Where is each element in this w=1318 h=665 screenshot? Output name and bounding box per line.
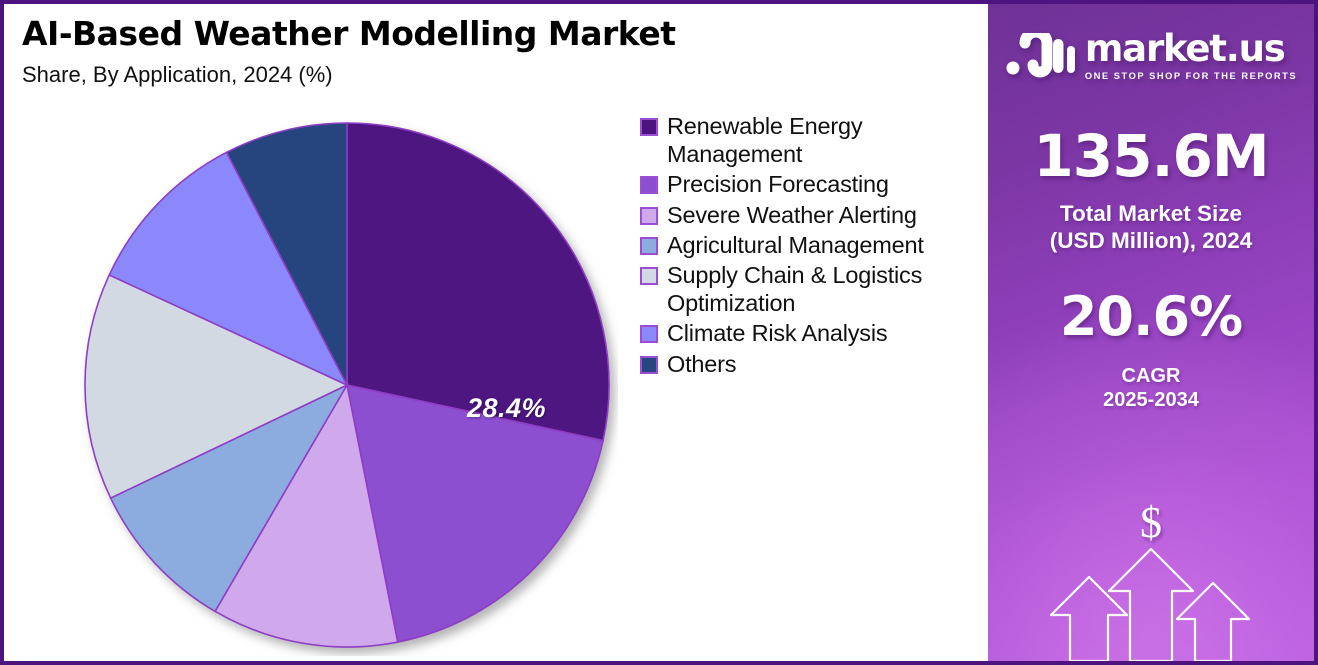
legend-item-label: Agricultural Management: [667, 231, 924, 259]
stats-sidebar: market.us ONE STOP SHOP FOR THE REPORTS …: [988, 4, 1314, 661]
chart-panel: AI-Based Weather Modelling Market Share,…: [4, 4, 988, 661]
dollar-sign-icon: $: [988, 501, 1314, 545]
pie-chart: 28.4%: [82, 120, 618, 656]
legend-item[interactable]: Others: [640, 350, 980, 378]
legend-item-label: Others: [667, 350, 736, 378]
legend-item[interactable]: Renewable Energy Management: [640, 112, 980, 168]
market-size-value: 135.6M: [988, 127, 1314, 185]
cagr-caption-line1: CAGR: [988, 364, 1314, 388]
legend-item[interactable]: Severe Weather Alerting: [640, 201, 980, 229]
legend-color-swatch: [640, 176, 658, 194]
legend-color-swatch: [640, 356, 658, 374]
page-subtitle: Share, By Application, 2024 (%): [22, 62, 333, 88]
page-title: AI-Based Weather Modelling Market: [22, 14, 676, 53]
chart-legend: Renewable Energy ManagementPrecision For…: [640, 112, 980, 380]
legend-color-swatch: [640, 267, 658, 285]
legend-item[interactable]: Agricultural Management: [640, 231, 980, 259]
logo-text: market.us ONE STOP SHOP FOR THE REPORTS: [1085, 30, 1297, 81]
pie-chart-svg: [82, 120, 618, 656]
logo-tagline: ONE STOP SHOP FOR THE REPORTS: [1085, 71, 1297, 81]
pie-slices: [85, 123, 609, 647]
cagr-caption: CAGR 2025-2034: [988, 364, 1314, 413]
cagr-caption-line2: 2025-2034: [988, 388, 1314, 412]
pie-slice-percent-label: 28.4%: [467, 393, 546, 424]
growth-arrows-graphic: $: [988, 501, 1314, 661]
cagr-value: 20.6%: [988, 290, 1314, 344]
legend-item-label: Climate Risk Analysis: [667, 319, 887, 347]
arrows-icon: [988, 543, 1314, 661]
legend-color-swatch: [640, 207, 658, 225]
legend-item[interactable]: Supply Chain & Logistics Optimization: [640, 261, 980, 317]
market-us-logo[interactable]: market.us ONE STOP SHOP FOR THE REPORTS: [988, 30, 1314, 81]
infographic-frame: AI-Based Weather Modelling Market Share,…: [0, 0, 1318, 665]
market-size-caption-line1: Total Market Size: [988, 201, 1314, 228]
legend-item-label: Renewable Energy Management: [667, 112, 980, 168]
legend-item-label: Precision Forecasting: [667, 170, 889, 198]
market-size-caption-line2: (USD Million), 2024: [988, 228, 1314, 255]
legend-color-swatch: [640, 237, 658, 255]
legend-item-label: Supply Chain & Logistics Optimization: [667, 261, 980, 317]
legend-color-swatch: [640, 118, 658, 136]
logo-name: market.us: [1085, 30, 1297, 67]
legend-item-label: Severe Weather Alerting: [667, 201, 917, 229]
legend-item[interactable]: Precision Forecasting: [640, 170, 980, 198]
legend-color-swatch: [640, 325, 658, 343]
legend-item[interactable]: Climate Risk Analysis: [640, 319, 980, 347]
market-size-caption: Total Market Size (USD Million), 2024: [988, 201, 1314, 254]
logo-mark-icon: [1005, 33, 1075, 79]
